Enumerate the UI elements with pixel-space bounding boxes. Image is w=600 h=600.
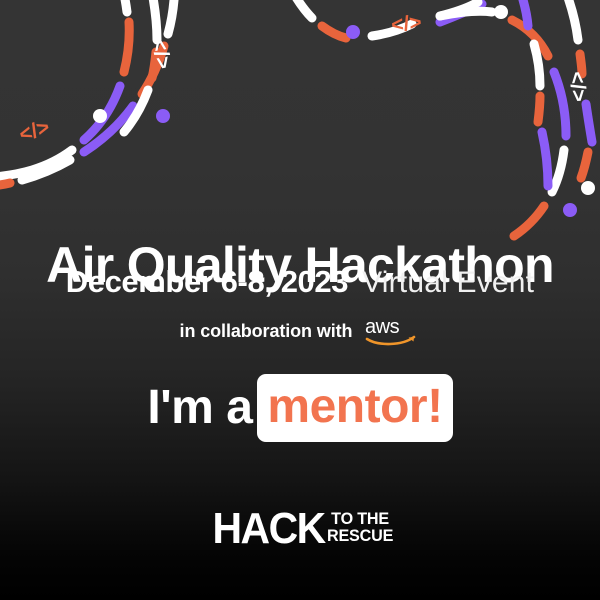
decor-path-mid-purple	[520, 0, 528, 26]
role-badge-text: mentor!	[267, 383, 442, 431]
brand-logo-line2: RESCUE	[327, 527, 393, 544]
role-prefix-text: I'm a	[147, 384, 252, 432]
decor-path-outer-white	[152, 0, 157, 40]
decor-path-lowleft-white-4	[168, 0, 174, 34]
brand-logo-line1: TO THE	[327, 510, 393, 527]
code-glyph-icon-2: </>	[147, 37, 175, 71]
code-glyph-icon-1: </>	[16, 115, 52, 146]
role-statement: I'm a mentor!	[0, 374, 600, 442]
brand-logo-stack: TO THE RESCUE	[327, 510, 397, 545]
brand-logo: HACK TO THE RESCUE	[0, 508, 600, 550]
decor-path-right-orange-2	[514, 206, 544, 236]
decor-path-outer-white-2	[124, 90, 148, 132]
decor-path-far-orange	[580, 54, 582, 74]
decor-path-far-orange-2	[581, 152, 588, 178]
decor-dots	[93, 5, 595, 217]
decor-path-left-white	[0, 150, 72, 178]
decor-dot-purple-2	[346, 25, 360, 39]
decor-path-mid-white	[534, 44, 540, 86]
decor-dot-white-2	[494, 5, 508, 19]
collaboration-label: in collaboration with	[180, 322, 353, 340]
decor-path-right-white-2	[552, 150, 564, 192]
decor-path-lowleft-white	[22, 160, 70, 180]
decor-path-top-purple	[440, 4, 482, 22]
decor-path-left-orange	[124, 22, 129, 72]
collaboration-row: in collaboration with aws	[0, 316, 600, 346]
decor-path-right-white	[440, 11, 492, 16]
decor-path-lowleft-orange-2	[142, 46, 164, 94]
aws-logo-icon: aws	[364, 316, 420, 346]
decor-dot-purple-1	[156, 109, 170, 123]
decor-path-mid-orange	[538, 96, 540, 122]
decor-path-top-white-2	[372, 24, 412, 36]
decor-path-mid-purple-2	[542, 132, 548, 186]
decor-path-lowleft-purple	[84, 106, 133, 152]
decor-path-right-orange	[512, 20, 548, 56]
brand-logo-primary: HACK	[212, 508, 324, 550]
code-glyph-icon-4: </>	[565, 71, 590, 103]
decor-dot-purple-3	[563, 203, 577, 217]
event-format: Virtual Event	[362, 266, 534, 299]
decor-dot-white-1	[93, 109, 107, 123]
decor-path-top-orange	[322, 26, 346, 38]
decor-path-left-white-3	[123, 0, 127, 12]
decor-path-left-white-2	[84, 86, 120, 140]
decor-dot-white-3	[581, 181, 595, 195]
decor-path-far-white	[566, 0, 578, 40]
role-badge: mentor!	[257, 374, 452, 442]
event-date: December 6-8, 2023	[66, 264, 348, 299]
decor-path-far-purple	[586, 104, 592, 142]
decor-path-outer-orange	[152, 52, 156, 78]
decor-path-lowleft-orange	[0, 183, 10, 186]
decor-code-glyphs: </> </> </> </>	[16, 11, 590, 147]
decor-path-right-purple	[554, 72, 566, 136]
code-glyph-icon-3: </>	[390, 11, 423, 37]
decor-path-top-white	[294, 0, 312, 18]
poster-canvas: </> </> </> </> Air Quality Hackathon De…	[0, 0, 600, 600]
event-dateline: December 6-8, 2023Virtual Event	[0, 266, 600, 298]
decor-path-top-white-3	[440, 2, 478, 16]
svg-text:aws: aws	[365, 316, 400, 338]
